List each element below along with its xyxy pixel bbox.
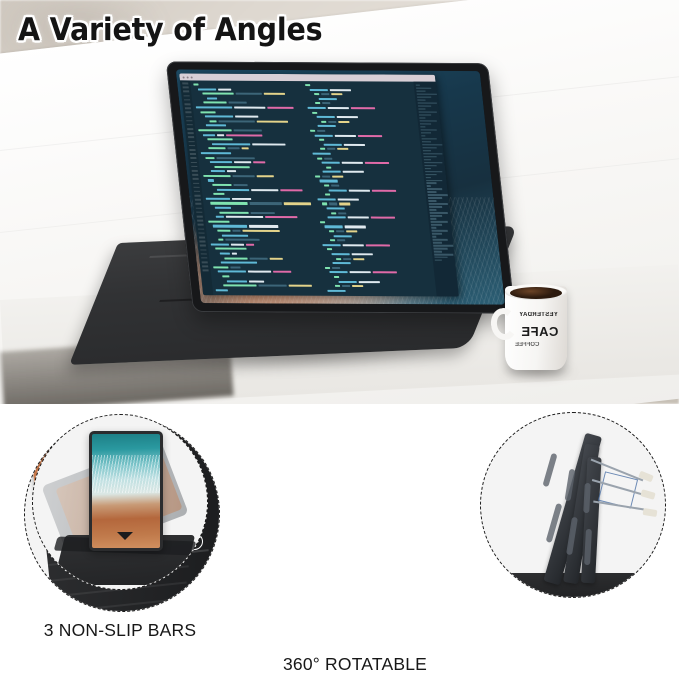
window-dot-icon bbox=[182, 76, 184, 78]
mug-text-line2: CAFE bbox=[521, 324, 558, 339]
arm-cap bbox=[640, 489, 655, 500]
window-dot-icon bbox=[190, 76, 192, 78]
feature-circle bbox=[480, 412, 666, 598]
tablet-device bbox=[166, 61, 515, 313]
product-feature-image: YESTERDAY CAFE COFFEE A Variety of Angle… bbox=[0, 0, 679, 679]
feature-caption-2: 360° ROTATABLE bbox=[240, 654, 470, 675]
rack-slot bbox=[542, 453, 557, 487]
editor-body bbox=[180, 80, 459, 296]
arm-cap bbox=[643, 508, 658, 517]
feature-circle bbox=[32, 414, 208, 590]
wave-foam bbox=[92, 455, 160, 494]
coffee-mug: YESTERDAY CAFE COFFEE bbox=[497, 286, 571, 374]
window-dot-icon bbox=[186, 76, 188, 78]
code-editor-window bbox=[179, 73, 458, 296]
hero-photo: YESTERDAY CAFE COFFEE A Variety of Angle… bbox=[0, 0, 679, 404]
mug-text-line1: YESTERDAY bbox=[519, 312, 558, 318]
coffee-liquid bbox=[510, 287, 562, 299]
feature-panels: 1 2 3 3 NON-SLIP BARS 36 bbox=[0, 404, 679, 679]
tablet-screen-ocean bbox=[92, 434, 160, 548]
mug-text-line3: COFFEE bbox=[515, 342, 539, 348]
feature-panel-rotatable: 360° ROTATABLE bbox=[0, 404, 230, 679]
tablet-screen bbox=[176, 69, 505, 304]
tablet-body bbox=[166, 61, 515, 313]
feature-panel-corner-rack: FREELY ADJUSTABLE CORNER RACK bbox=[462, 404, 679, 679]
page-title: A Variety of Angles bbox=[18, 12, 322, 48]
